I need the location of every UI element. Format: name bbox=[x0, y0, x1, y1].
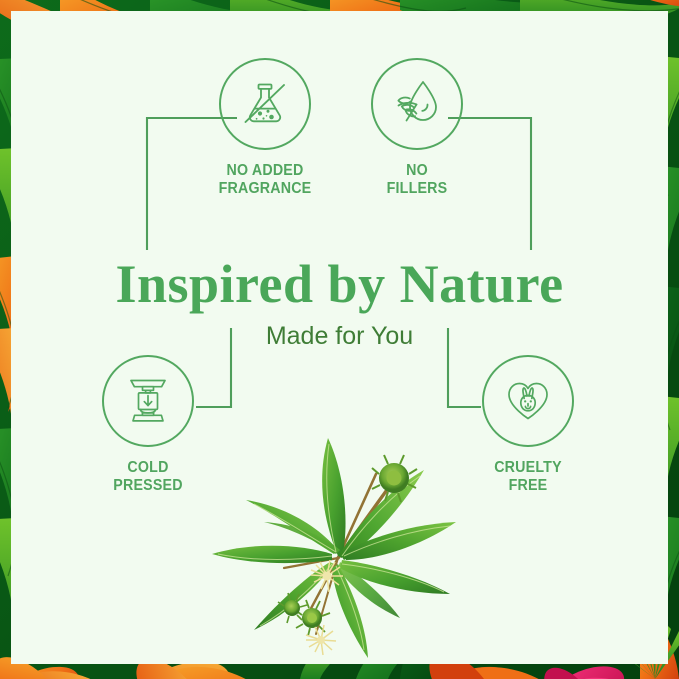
badge-no-added-fragrance: NO ADDED FRAGRANCE bbox=[190, 58, 340, 198]
badge-label: NO ADDED FRAGRANCE bbox=[196, 162, 334, 198]
badge-label: CRUELTY FREE bbox=[459, 459, 597, 495]
infographic-canvas: NO ADDED FRAGRANCE NO FILLERS bbox=[0, 0, 679, 679]
rabbit-heart-icon bbox=[498, 371, 558, 431]
badge-no-fillers: NO FILLERS bbox=[342, 58, 492, 198]
badge-label: NO FILLERS bbox=[348, 162, 486, 198]
flask-no-fragrance-icon bbox=[235, 74, 295, 134]
droplet-leaf-icon bbox=[387, 74, 447, 134]
badge-circle bbox=[102, 355, 194, 447]
press-arrow-icon bbox=[118, 371, 178, 431]
badge-circle bbox=[371, 58, 463, 150]
badge-circle bbox=[219, 58, 311, 150]
badge-circle bbox=[482, 355, 574, 447]
plant-illustration bbox=[188, 418, 478, 658]
page-title: Inspired by Nature bbox=[0, 255, 679, 313]
page-subtitle: Made for You bbox=[0, 321, 679, 351]
